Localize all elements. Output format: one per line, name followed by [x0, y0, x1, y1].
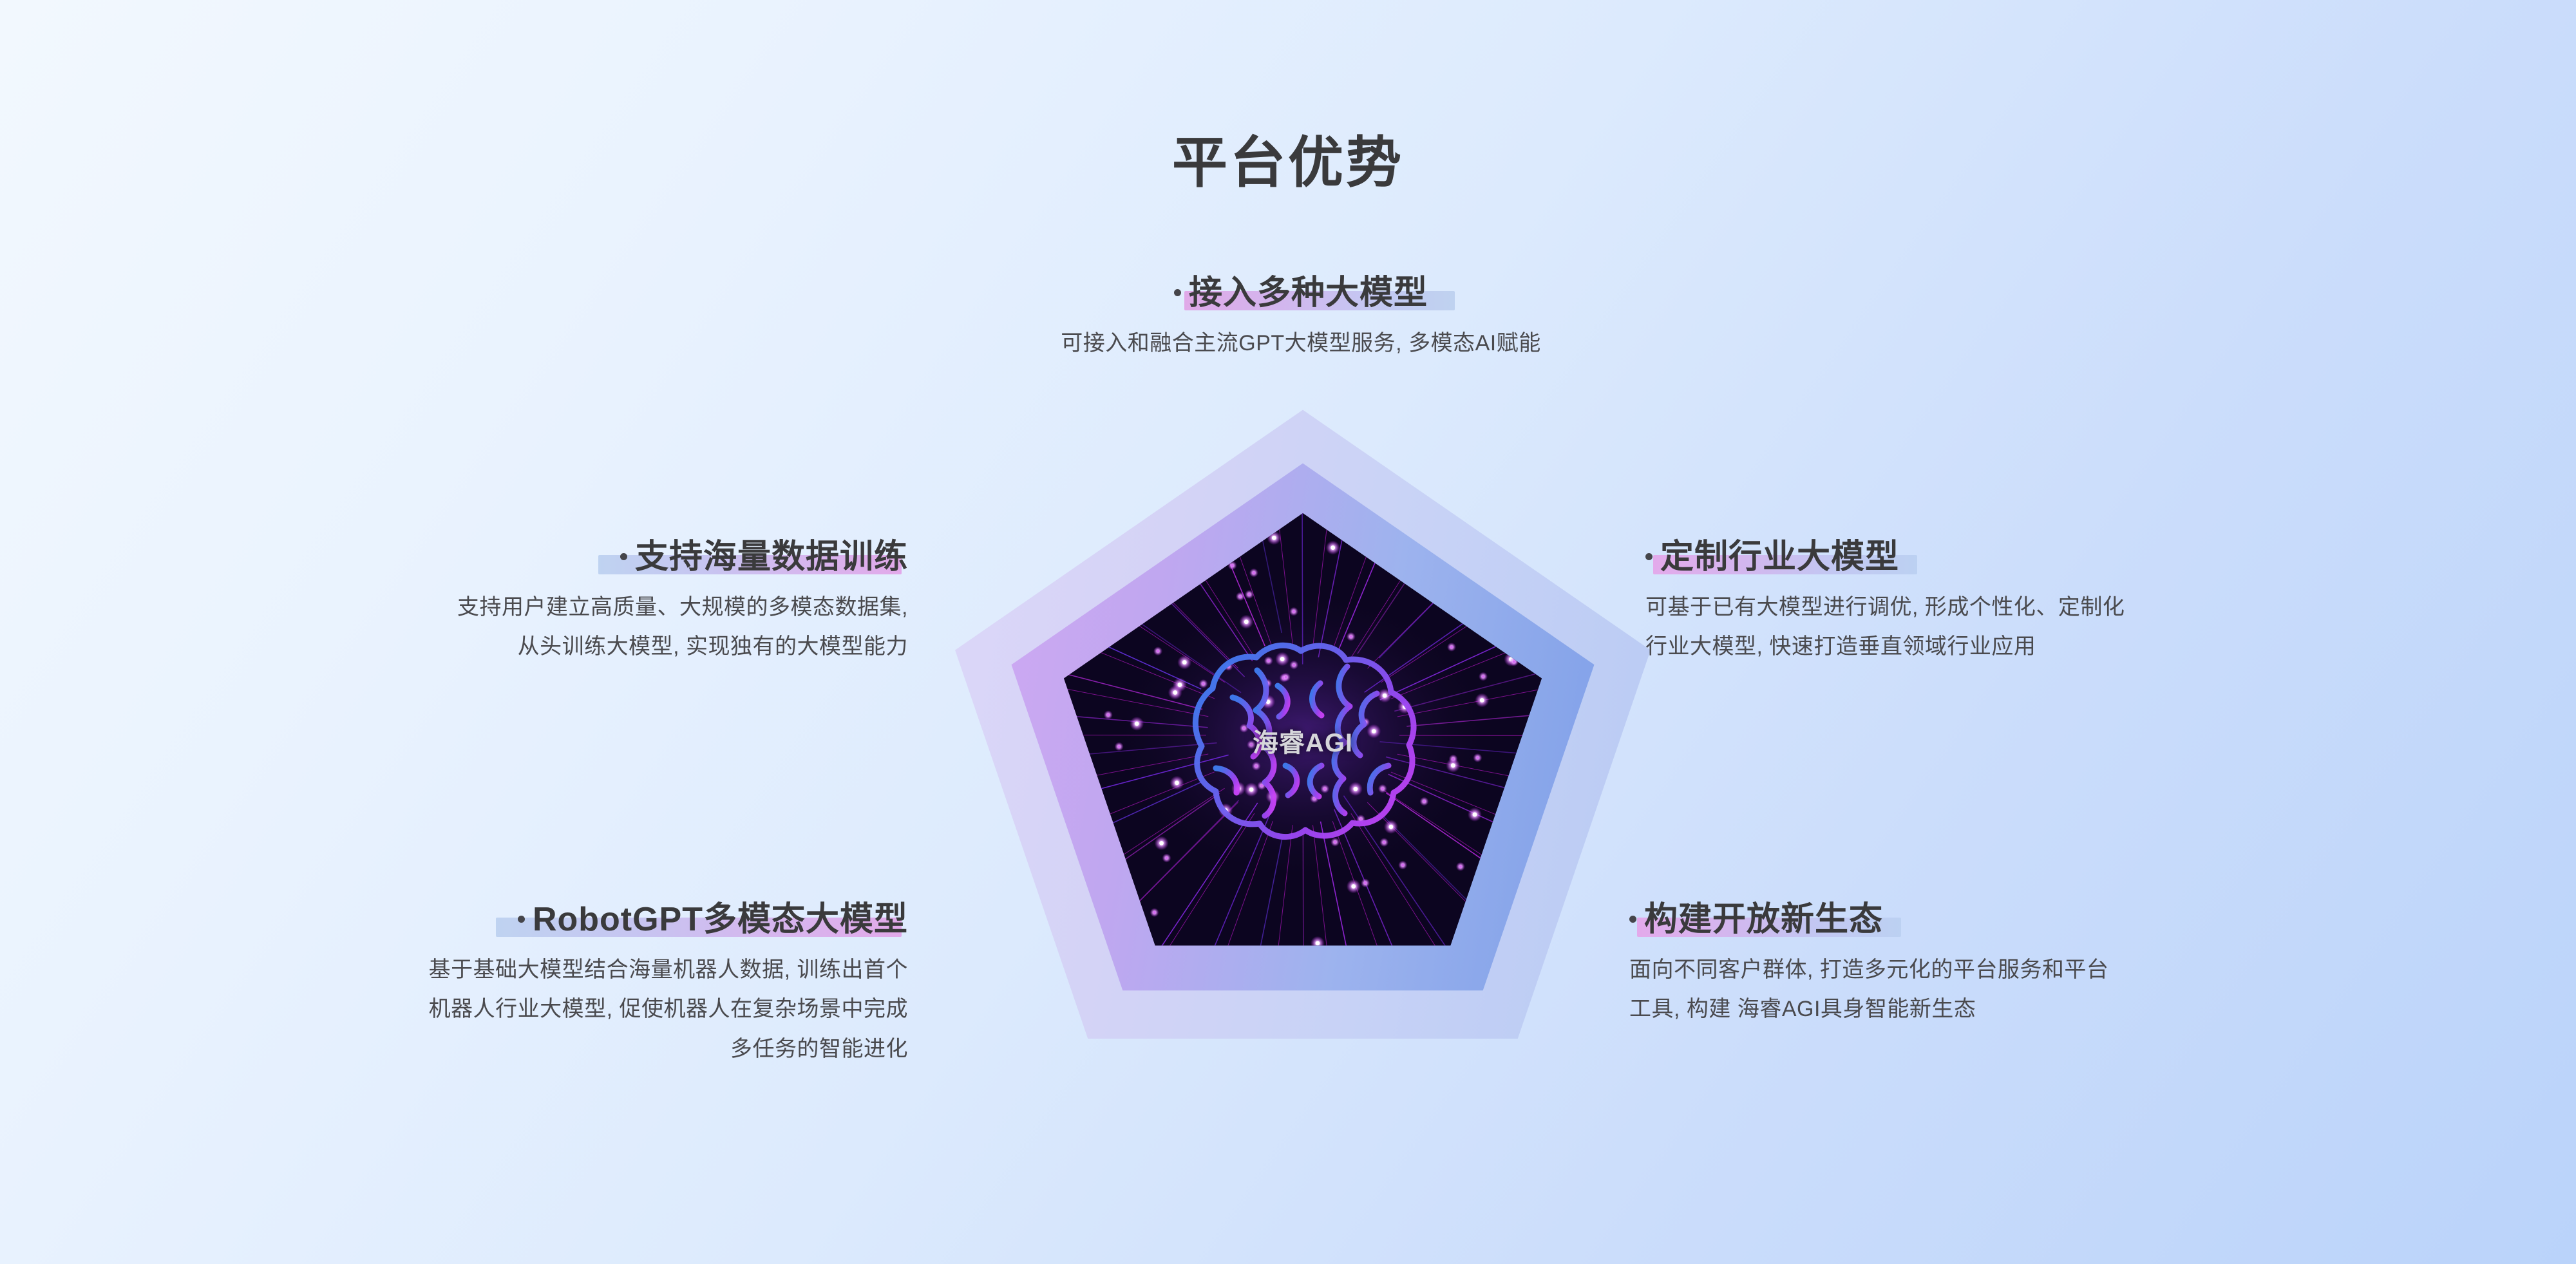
- callout-custom-industry-model: 定制行业大模型 可基于已有大模型进行调优, 形成个性化、定制化 行业大模型, 快…: [1645, 538, 2450, 665]
- callout-desc-line: 可基于已有大模型进行调优, 形成个性化、定制化: [1645, 590, 2450, 625]
- callout-heading: 构建开放新生态: [1629, 900, 1883, 939]
- center-label: 海睿AGI: [1253, 722, 1353, 759]
- callout-heading: RobotGPT多模态大模型: [518, 900, 908, 939]
- bullet-dot-icon: [518, 916, 525, 923]
- callout-desc-line: 面向不同客户群体, 打造多元化的平台服务和平台: [1629, 952, 2434, 988]
- callout-robotgpt-multimodal: RobotGPT多模态大模型 基于基础大模型结合海量机器人数据, 训练出首个 机…: [129, 900, 908, 1067]
- callout-heading: 接入多种大模型: [1174, 274, 1428, 313]
- callout-desc-line: 可接入和融合主流GPT大模型服务, 多模态AI赋能: [902, 326, 1700, 361]
- bullet-dot-icon: [1645, 553, 1653, 560]
- central-pentagon-graphic: 海睿AGI: [955, 393, 1651, 1088]
- callout-desc-line: 机器人行业大模型, 促使机器人在复杂场景中完成: [129, 992, 908, 1027]
- page-title: 平台优势: [0, 117, 2576, 198]
- callout-desc-line: 支持用户建立高质量、大规模的多模态数据集,: [148, 590, 908, 625]
- callout-heading: 定制行业大模型: [1645, 538, 1899, 577]
- callout-access-models: 接入多种大模型 可接入和融合主流GPT大模型服务, 多模态AI赋能: [902, 274, 1700, 361]
- callout-desc-line: 从头训练大模型, 实现独有的大模型能力: [148, 629, 908, 665]
- bullet-dot-icon: [1629, 916, 1636, 923]
- infographic-stage: 平台优势: [0, 0, 2576, 1264]
- callout-desc-line: 行业大模型, 快速打造垂直领域行业应用: [1645, 629, 2450, 665]
- callout-mass-data-training: 支持海量数据训练 支持用户建立高质量、大规模的多模态数据集, 从头训练大模型, …: [148, 538, 908, 665]
- callout-desc-line: 工具, 构建 海睿AGI具身智能新生态: [1629, 992, 2434, 1027]
- callout-desc-line: 基于基础大模型结合海量机器人数据, 训练出首个: [129, 952, 908, 988]
- callout-heading: 支持海量数据训练: [620, 538, 908, 577]
- bullet-dot-icon: [620, 553, 627, 560]
- callout-desc-line: 多任务的智能进化: [129, 1032, 908, 1067]
- callout-open-ecosystem: 构建开放新生态 面向不同客户群体, 打造多元化的平台服务和平台 工具, 构建 海…: [1629, 900, 2434, 1028]
- bullet-dot-icon: [1174, 289, 1181, 296]
